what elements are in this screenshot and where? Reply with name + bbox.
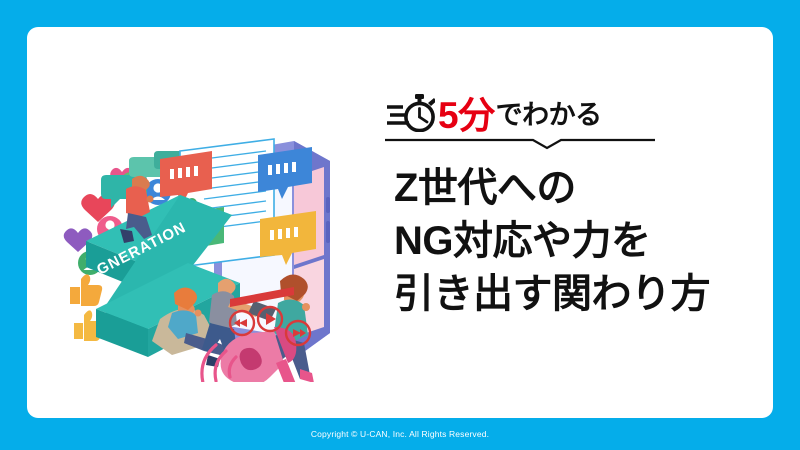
- headline-line-3: 引き出す関わり方: [394, 268, 773, 321]
- illustration-svg: GNERATION: [62, 137, 372, 382]
- eyebrow-underline: [385, 138, 655, 150]
- eyebrow-minutes: 5分: [438, 98, 495, 133]
- headline-line-1: Z世代への: [394, 162, 773, 215]
- footer-bar: Copyright © U-CAN, Inc. All Rights Reser…: [0, 418, 800, 450]
- headline-line-2: NG対応や力を: [394, 215, 773, 268]
- slide-card: GNERATION: [27, 27, 773, 418]
- eyebrow-tail: でわかる: [496, 99, 602, 133]
- generation-z-illustration: GNERATION: [62, 137, 372, 382]
- page-title: Z世代への NG対応や力を 引き出す関わり方: [394, 162, 773, 322]
- text-block: 5分 でわかる Z世代への NG対応や力を 引き出す関わり方: [367, 85, 773, 322]
- copyright-text: Copyright © U-CAN, Inc. All Rights Reser…: [311, 429, 489, 439]
- stopwatch-icon: [387, 94, 435, 132]
- eyebrow: 5分 でわかる: [367, 85, 773, 133]
